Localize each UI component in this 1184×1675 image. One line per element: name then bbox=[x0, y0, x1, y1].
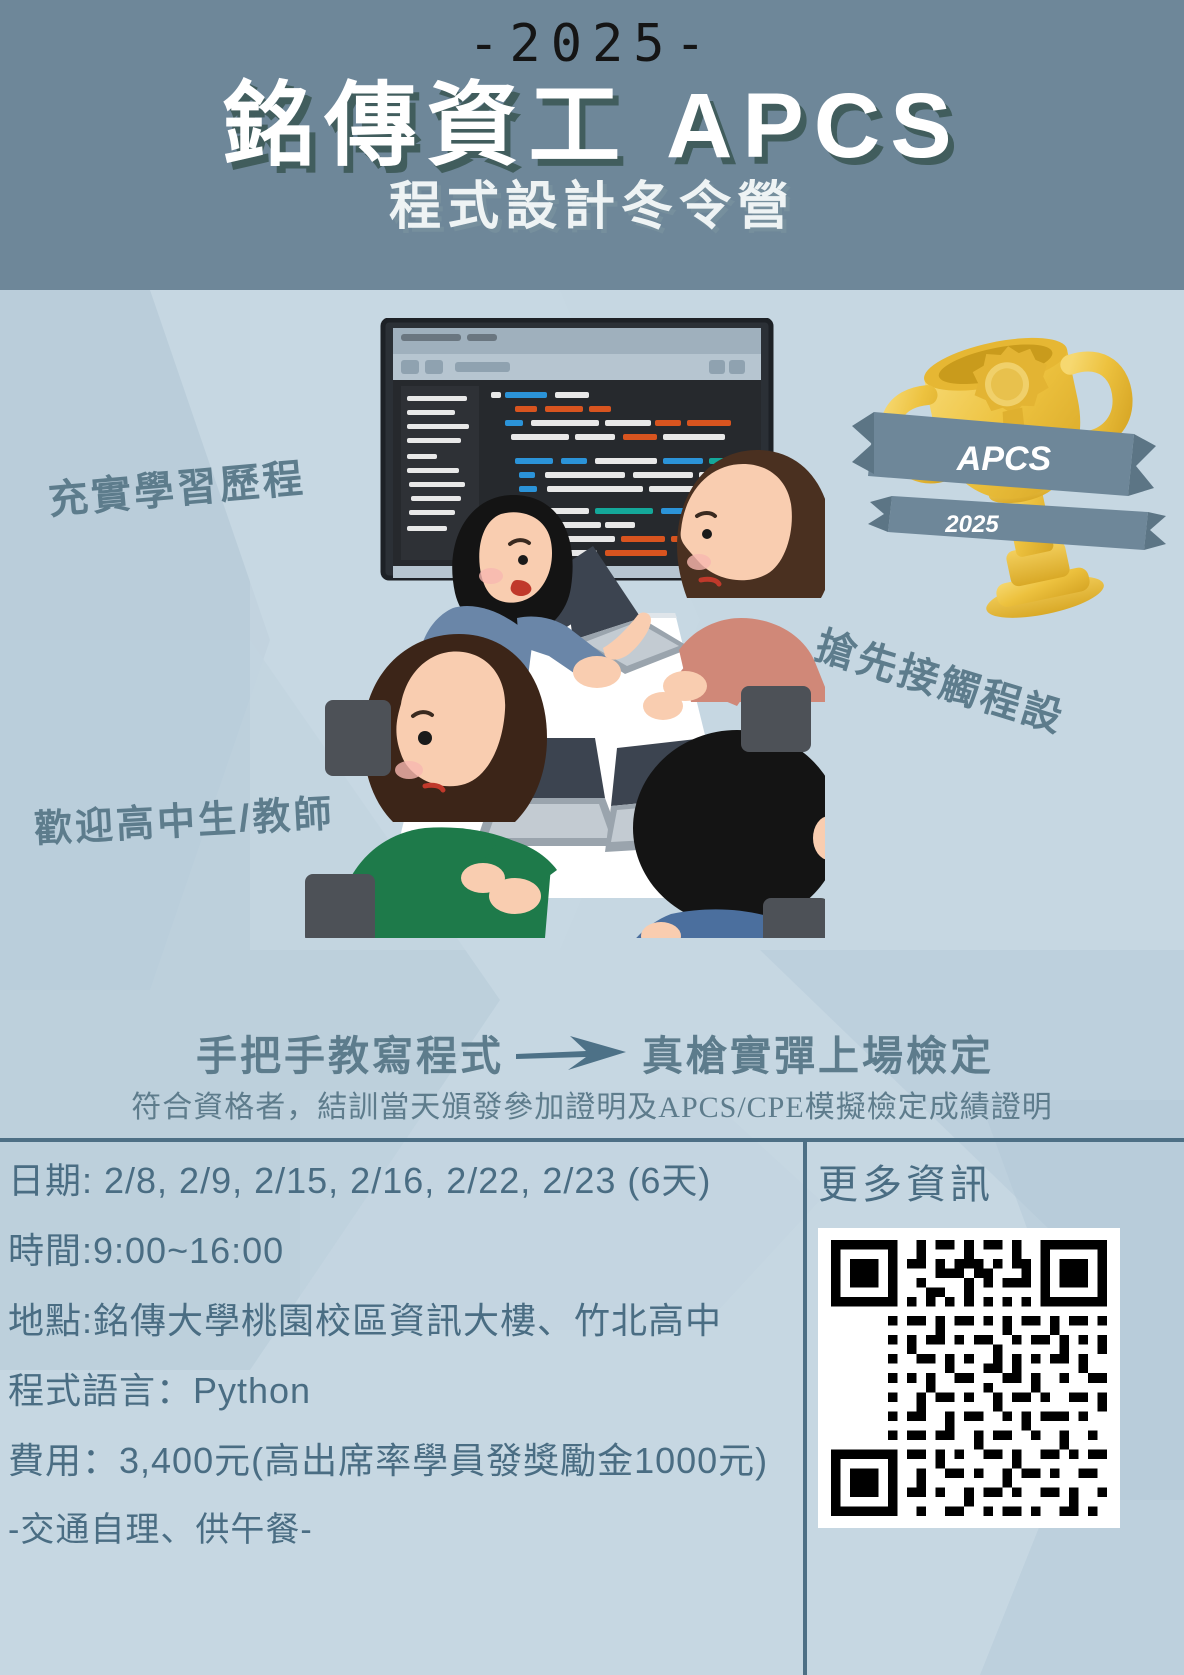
flow-caption-left: 手把手教寫程式 bbox=[196, 1022, 504, 1082]
year-label: -2025- bbox=[468, 18, 716, 70]
info-line-date: 日期: 2/8, 2/9, 2/15, 2/16, 2/22, 2/23 (6天… bbox=[8, 1152, 798, 1204]
certificate-note: 符合資格者，結訓當天頒發參加證明及APCS/CPE模擬檢定成績證明 bbox=[0, 1082, 1184, 1126]
flow-caption-row: 手把手教寫程式 真槍實彈上場檢定 bbox=[196, 1022, 994, 1082]
vertical-divider bbox=[803, 1142, 807, 1675]
right-arrow-icon bbox=[514, 1030, 632, 1074]
poster-header: -2025- 銘傳資工 APCS 程式設計冬令營 bbox=[0, 0, 1184, 290]
info-list: 日期: 2/8, 2/9, 2/15, 2/16, 2/22, 2/23 (6天… bbox=[8, 1152, 798, 1551]
flow-caption-right: 真槍實彈上場檢定 bbox=[642, 1022, 994, 1082]
info-line-location: 地點:銘傳大學桃園校區資訊大樓、竹北高中 bbox=[8, 1292, 798, 1344]
info-line-language: 程式語言：Python bbox=[8, 1362, 798, 1414]
students-with-laptops-illustration bbox=[305, 318, 825, 938]
trophy-icon: APCS 2025 bbox=[852, 300, 1182, 630]
info-line-fee: 費用：3,400元(高出席率學員發獎勵金1000元) bbox=[8, 1432, 798, 1484]
more-info-title: 更多資訊 bbox=[818, 1152, 1168, 1210]
trophy-ribbon-top-label: APCS bbox=[956, 440, 1052, 478]
trophy-ribbon-bottom-label: 2025 bbox=[944, 511, 999, 538]
info-line-extra: -交通自理、供午餐- bbox=[8, 1502, 798, 1551]
page-subtitle: 程式設計冬令營 bbox=[389, 178, 795, 238]
page-title: 銘傳資工 APCS bbox=[222, 74, 961, 180]
poster-root: -2025- 銘傳資工 APCS 程式設計冬令營 bbox=[0, 0, 1184, 1675]
info-line-time: 時間:9:00~16:00 bbox=[8, 1222, 798, 1274]
qr-code-icon[interactable] bbox=[818, 1228, 1120, 1528]
horizontal-divider bbox=[0, 1138, 1184, 1142]
more-info-panel: 更多資訊 bbox=[818, 1152, 1168, 1528]
